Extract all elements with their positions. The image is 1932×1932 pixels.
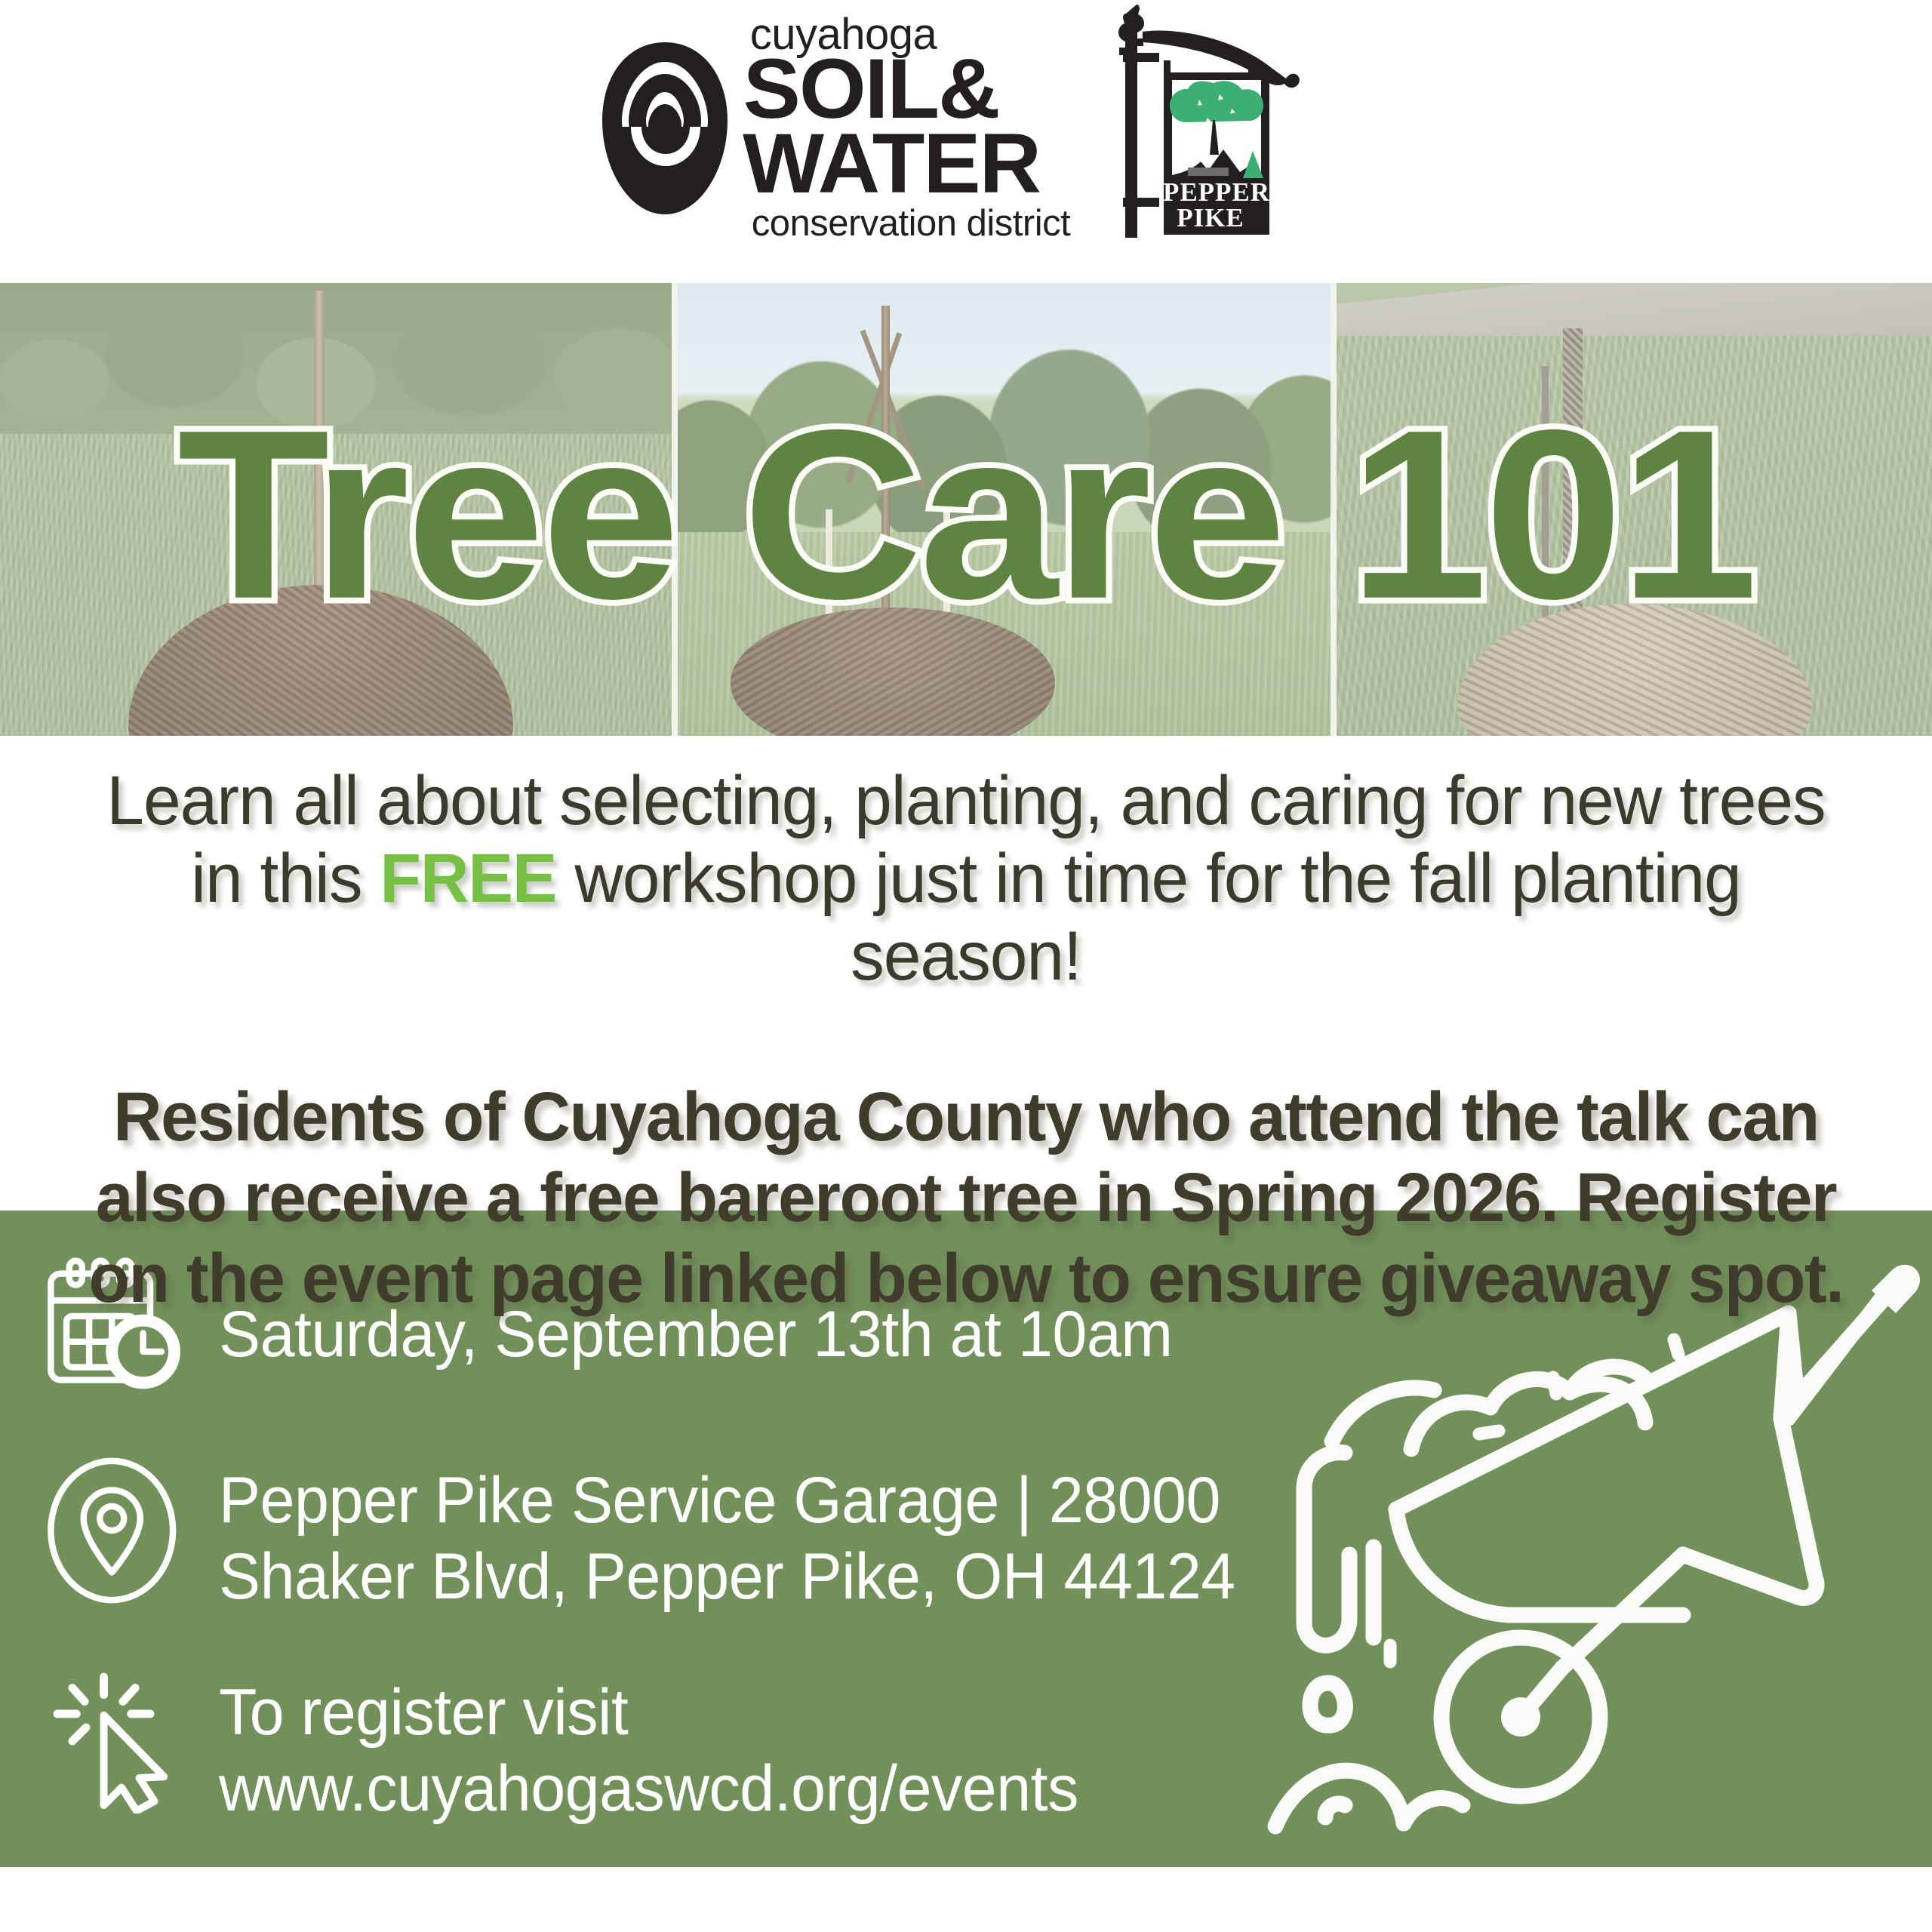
map-pin-icon	[44, 1455, 186, 1606]
page-title: Tree Care 101	[0, 395, 1932, 635]
body-copy: Learn all about selecting, planting, and…	[0, 762, 1932, 1318]
detail-row-location: Pepper Pike Service Garage | 28000 Shake…	[44, 1455, 1328, 1614]
hanging-sign-icon: PEPPER PIKE	[1100, 3, 1334, 275]
logo-line-conservation-district: conservation district	[752, 205, 1071, 242]
pepper-pike-label-line2: PIKE	[1177, 203, 1244, 232]
header-logos: cuyahoga SOIL& WATER conservation distri…	[0, 0, 1932, 283]
click-cursor-icon	[44, 1670, 186, 1814]
free-highlight: FREE	[380, 840, 556, 917]
lede-paragraph: Learn all about selecting, planting, and…	[73, 762, 1860, 995]
detail-location-text: Pepper Pike Service Garage | 28000 Shake…	[219, 1455, 1284, 1614]
promo-paragraph: Residents of Cuyahoga County who attend …	[73, 1077, 1860, 1318]
cuyahoga-soil-water-logo: cuyahoga SOIL& WATER conservation distri…	[598, 14, 1071, 242]
detail-row-register: To register visit www.cuyahogaswcd.org/e…	[44, 1670, 1328, 1826]
logo-line-water: WATER	[743, 127, 1040, 202]
lede-text-after: workshop just in time for the fall plant…	[556, 840, 1740, 995]
concentric-swirl-icon	[598, 38, 732, 219]
detail-register-text: To register visit www.cuyahogaswcd.org/e…	[219, 1670, 1284, 1826]
